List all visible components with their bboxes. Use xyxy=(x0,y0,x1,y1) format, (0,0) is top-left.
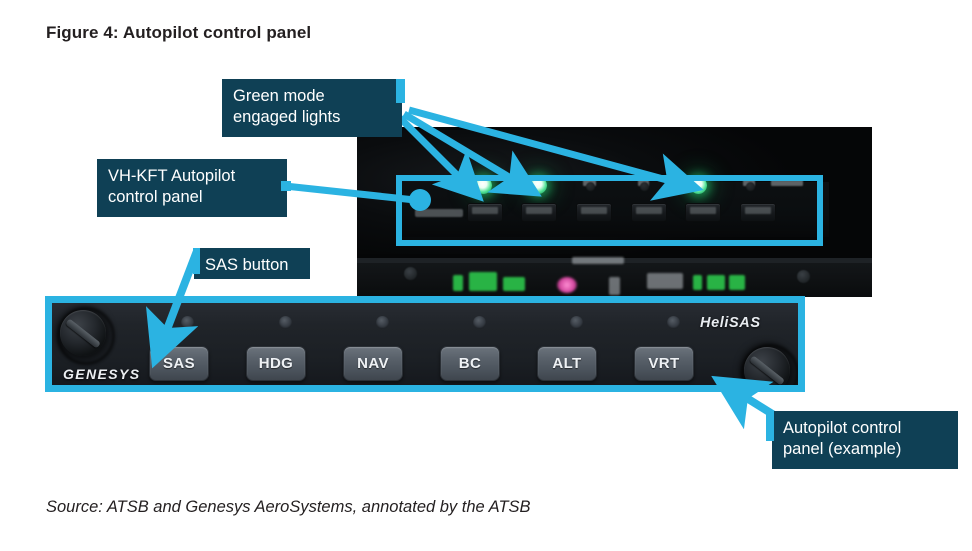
cockpit-green-digit xyxy=(453,275,463,291)
cockpit-magenta-indicator xyxy=(557,277,577,293)
cockpit-knob xyxy=(797,270,810,283)
cockpit-knob xyxy=(404,267,417,280)
connector-stub-sas xyxy=(193,248,200,274)
cockpit-green-digit xyxy=(707,275,725,290)
cockpit-instrument-element xyxy=(609,277,620,295)
connector-stub-example xyxy=(766,411,774,441)
highlight-helisas-panel xyxy=(45,296,805,392)
callout-green-mode-engaged-lights: Green mode engaged lights xyxy=(222,79,402,137)
cockpit-instrument-element xyxy=(647,273,683,289)
figure-source: Source: ATSB and Genesys AeroSystems, an… xyxy=(46,498,531,517)
connector-stub-green-lights xyxy=(396,79,405,103)
cockpit-green-digit xyxy=(729,275,745,290)
cockpit-green-digit xyxy=(693,275,702,290)
callout-vh-kft-autopilot-control-panel: VH-KFT Autopilot control panel xyxy=(97,159,287,217)
callout-sas-button: SAS button xyxy=(194,248,310,279)
connector-stub-vh-kft xyxy=(281,181,291,191)
highlight-cockpit-autopilot-panel xyxy=(396,175,823,246)
figure-container: Figure 4: Autopilot control panel xyxy=(0,0,972,551)
cockpit-instrument-label xyxy=(572,257,624,264)
figure-title: Figure 4: Autopilot control panel xyxy=(46,23,311,43)
callout-autopilot-control-panel-example: Autopilot control panel (example) xyxy=(772,411,958,469)
cockpit-green-digit xyxy=(469,272,497,291)
cockpit-green-digit xyxy=(503,277,525,291)
